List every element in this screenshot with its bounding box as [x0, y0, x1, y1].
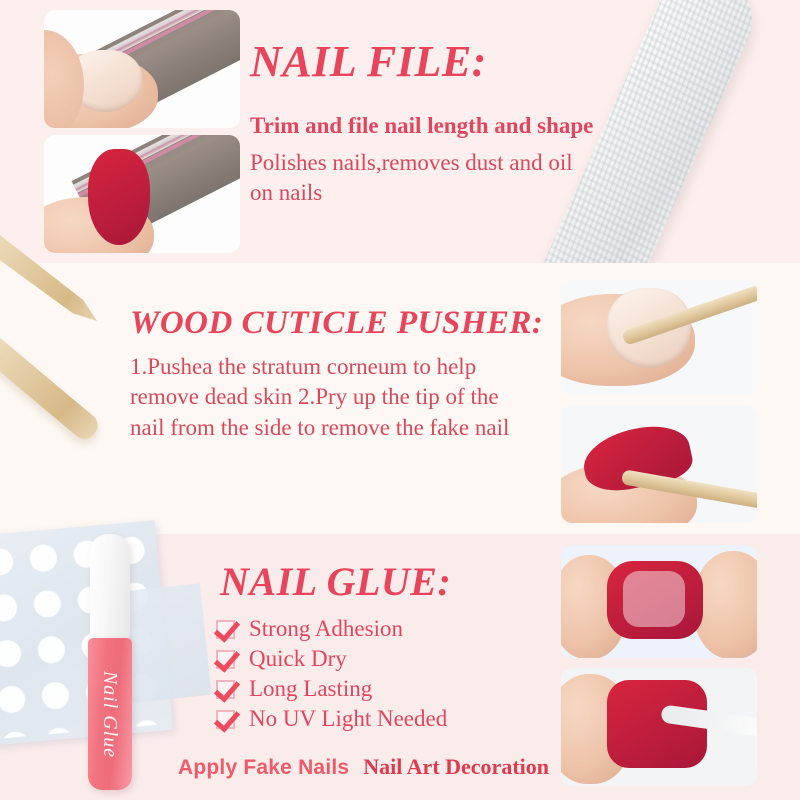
photo-pushing-cuticle [561, 280, 757, 395]
glue-bottle-label-text: Nail Glue [99, 670, 122, 757]
photo-filing-natural-nail [44, 10, 240, 128]
subheading-nail-file: Trim and file nail length and shape [250, 113, 593, 139]
footer-tagline-part-one: Apply Fake Nails [178, 756, 349, 780]
checkmark-icon [216, 650, 235, 669]
body-wood-cuticle-pusher: 1.Pushea the stratum corneum to help rem… [130, 352, 510, 443]
feature-label: No UV Light Needed [249, 706, 447, 732]
photo-filing-painted-nail [44, 135, 240, 253]
footer-tagline-part-two: Nail Art Decoration [363, 754, 549, 780]
list-item: Strong Adhesion [216, 615, 447, 643]
list-item: Long Lasting [216, 675, 447, 703]
section-nail-file: NAIL FILE: Trim and file nail length and… [0, 0, 800, 263]
photo-prying-fake-nail [561, 405, 757, 523]
glue-bottle-cap [90, 534, 130, 644]
body-nail-file: Polishes nails,removes dust and oil on n… [250, 148, 590, 209]
checkmark-icon [216, 710, 235, 729]
glue-bottle-body: Nail Glue [88, 638, 132, 790]
nail-glue-feature-list: Strong Adhesion Quick Dry Long Lasting N… [216, 615, 447, 735]
photo-applying-glue-to-nail [561, 545, 757, 658]
feature-label: Strong Adhesion [249, 616, 403, 642]
checkmark-icon [216, 680, 235, 699]
heading-nail-file: NAIL FILE: [250, 36, 487, 87]
infographic-page: NAIL FILE: Trim and file nail length and… [0, 0, 800, 800]
checkmark-icon [216, 620, 235, 639]
glue-bottle-label: Nail Glue [88, 638, 132, 790]
footer-tagline: Apply Fake Nails Nail Art Decoration [178, 754, 549, 780]
photo-brushing-glue [561, 668, 757, 786]
feature-label: Long Lasting [249, 676, 372, 702]
heading-nail-glue: NAIL GLUE: [220, 558, 451, 605]
feature-label: Quick Dry [249, 646, 347, 672]
list-item: No UV Light Needed [216, 705, 447, 733]
nail-glue-bottle: Nail Glue [84, 534, 136, 790]
heading-wood-cuticle-pusher: WOOD CUTICLE PUSHER: [130, 305, 543, 342]
list-item: Quick Dry [216, 645, 447, 673]
